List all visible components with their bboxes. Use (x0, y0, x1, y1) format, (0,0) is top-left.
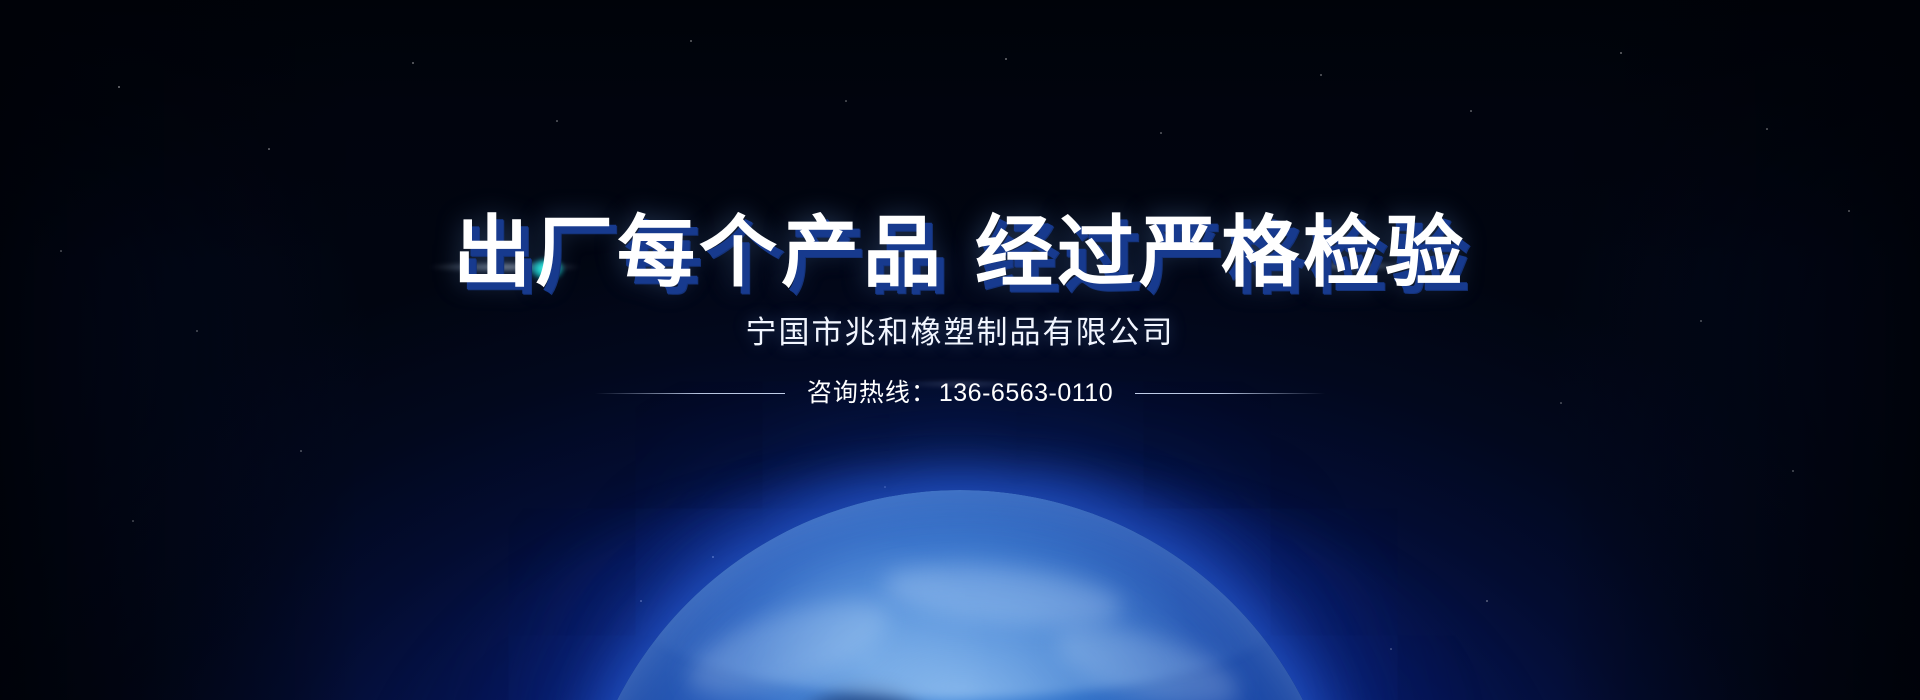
banner-content: 出厂每个产品经过严格检验 宁国市兆和橡塑制品有限公司 咨询热线： 136-656… (0, 0, 1920, 700)
headline-part-1: 出厂每个产品 (453, 208, 945, 296)
headline-part-2: 经过严格检验 (975, 208, 1467, 296)
hotline-row: 咨询热线： 136-6563-0110 (595, 381, 1325, 406)
hotline-text: 咨询热线： 136-6563-0110 (807, 381, 1113, 406)
hotline-number[interactable]: 136-6563-0110 (939, 381, 1113, 406)
hero-banner: 出厂每个产品经过严格检验 宁国市兆和橡塑制品有限公司 咨询热线： 136-656… (0, 0, 1920, 700)
divider-line-right (1135, 393, 1325, 394)
hotline-label: 咨询热线： (807, 381, 937, 406)
company-name: 宁国市兆和橡塑制品有限公司 (746, 317, 1175, 348)
page-title: 出厂每个产品经过严格检验 (453, 213, 1467, 291)
divider-line-left (595, 393, 785, 394)
